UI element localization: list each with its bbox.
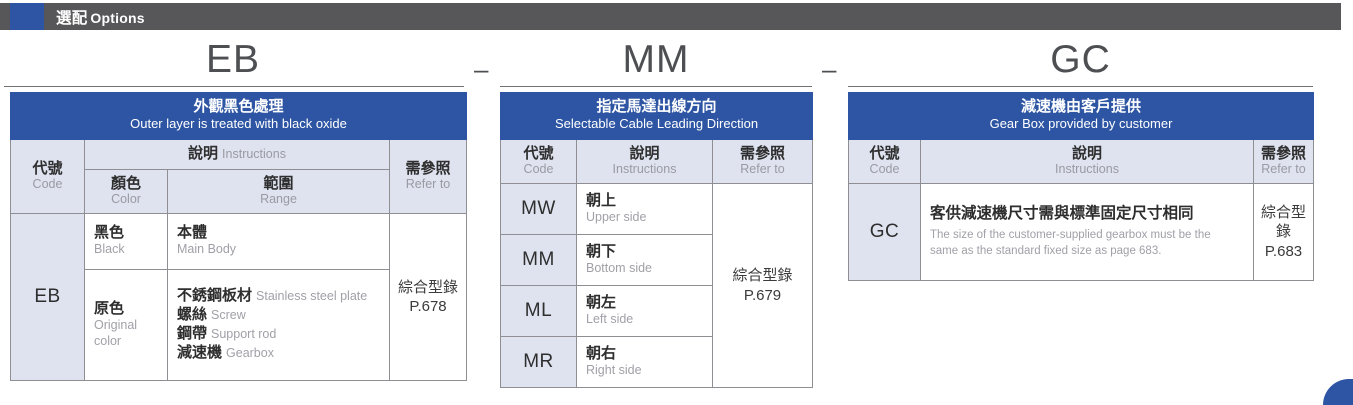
col-header-instructions-zh: 說明 xyxy=(924,145,1250,162)
col-header-instructions: 說明Instructions xyxy=(85,139,390,169)
cell-direction-left: 朝左 Left side xyxy=(577,286,713,337)
col-header-refer-zh: 需參照 xyxy=(716,145,809,162)
section-title-zh: 選配 xyxy=(56,10,87,27)
table-row-header: 代號 Code 說明 Instructions 需參照 Refer to xyxy=(501,139,813,183)
col-header-code-zh: 代號 xyxy=(14,160,81,177)
code-heading-rule-eb xyxy=(4,86,464,87)
cell-gearbox-description-en: The size of the customer-supplied gearbo… xyxy=(930,227,1230,260)
col-header-code-en: Code xyxy=(852,162,917,177)
col-header-instructions-en: Instructions xyxy=(222,147,286,161)
cell-code-mr: MR xyxy=(501,337,577,388)
col-header-refer-en: Refer to xyxy=(716,162,809,177)
cell-code-gc: GC xyxy=(849,184,921,281)
table-row-band: 減速機由客戶提供 Gear Box provided by customer xyxy=(849,93,1314,140)
range-item: 不銹鋼板材Stainless steel plate xyxy=(177,287,381,305)
cell-code-mw: MW xyxy=(501,184,577,235)
cell-direction-right: 朝右 Right side xyxy=(577,337,713,388)
cell-refer-value: 綜合型錄 P.679 xyxy=(713,184,813,388)
cell-range-main-body-en: Main Body xyxy=(177,242,381,258)
table-band-gc: 減速機由客戶提供 Gear Box provided by customer xyxy=(849,93,1314,140)
cell-refer-value: 綜合型錄 P.678 xyxy=(390,214,467,381)
code-heading-gc: GC xyxy=(848,40,1313,79)
section-title-en: Options xyxy=(90,10,144,26)
col-header-color-en: Color xyxy=(88,192,164,207)
cell-code-ml: ML xyxy=(501,286,577,337)
cell-color-black-en: Black xyxy=(94,242,159,258)
cell-refer-catalog: 綜合型錄 xyxy=(394,278,462,298)
col-header-instructions-zh: 說明 xyxy=(580,145,709,162)
col-header-code: 代號 Code xyxy=(501,139,577,183)
col-header-refer: 需參照 Refer to xyxy=(1254,139,1314,183)
band-title-zh: 外觀黑色處理 xyxy=(15,98,462,115)
band-title-en: Selectable Cable Leading Direction xyxy=(505,116,808,132)
section-title-bar: 選配Options xyxy=(0,3,1341,30)
col-header-instructions: 說明 Instructions xyxy=(921,139,1254,183)
col-header-refer-zh: 需參照 xyxy=(393,160,463,177)
col-header-code-zh: 代號 xyxy=(852,145,917,162)
options-table-eb: 外觀黑色處理 Outer layer is treated with black… xyxy=(10,92,467,381)
cell-direction-upper: 朝上 Upper side xyxy=(577,184,713,235)
col-header-code: 代號 Code xyxy=(11,139,85,213)
table-row: EB 黑色 Black 本體 Main Body 綜合型錄 P.678 xyxy=(11,214,467,270)
cell-color-black-zh: 黑色 xyxy=(94,224,159,242)
band-title-zh: 減速機由客戶提供 xyxy=(853,98,1309,115)
col-header-refer: 需參照 Refer to xyxy=(390,139,467,213)
cell-refer-page: P.683 xyxy=(1258,242,1309,262)
cell-gearbox-description: 客供減速機尺寸需與標準固定尺寸相同 The size of the custom… xyxy=(921,184,1254,281)
cell-color-original-zh: 原色 xyxy=(94,300,159,318)
col-header-refer-zh: 需參照 xyxy=(1257,145,1310,162)
col-header-refer-en: Refer to xyxy=(393,177,463,192)
separator-dash-1: – xyxy=(474,56,488,82)
cell-color-original: 原色 Original color xyxy=(85,270,168,381)
code-heading-eb: EB xyxy=(0,40,466,79)
separator-dash-2: – xyxy=(822,56,836,82)
band-title-zh: 指定馬達出線方向 xyxy=(505,98,808,115)
col-header-code: 代號 Code xyxy=(849,139,921,183)
cell-refer-page: P.679 xyxy=(717,286,808,306)
cell-gearbox-description-zh: 客供減速機尺寸需與標準固定尺寸相同 xyxy=(930,203,1245,225)
col-header-instructions-en: Instructions xyxy=(580,162,709,177)
table-row-header: 代號 Code 說明 Instructions 需參照 Refer to xyxy=(849,139,1314,183)
col-header-instructions-en: Instructions xyxy=(924,162,1250,177)
col-header-color: 顏色 Color xyxy=(85,169,168,213)
cell-range-main-body: 本體 Main Body xyxy=(168,214,390,270)
cell-code-value: EB xyxy=(11,214,85,381)
cell-code-mm: MM xyxy=(501,235,577,286)
corner-shape-icon xyxy=(1323,379,1353,405)
col-header-instructions: 說明 Instructions xyxy=(577,139,713,183)
range-item: 鋼帶Support rod xyxy=(177,325,381,343)
col-header-refer-en: Refer to xyxy=(1257,162,1310,177)
col-header-code-en: Code xyxy=(504,162,573,177)
cell-range-original: 不銹鋼板材Stainless steel plate 螺絲Screw 鋼帶Sup… xyxy=(168,270,390,381)
page-corner-mark xyxy=(1317,375,1353,405)
table-band-mm: 指定馬達出線方向 Selectable Cable Leading Direct… xyxy=(501,93,813,140)
cell-direction-bottom: 朝下 Bottom side xyxy=(577,235,713,286)
range-item: 減速機Gearbox xyxy=(177,344,381,362)
col-header-code-zh: 代號 xyxy=(504,145,573,162)
band-title-en: Gear Box provided by customer xyxy=(853,116,1309,132)
cell-refer-catalog: 綜合型錄 xyxy=(717,266,808,286)
table-row: MW 朝上 Upper side 綜合型錄 P.679 xyxy=(501,184,813,235)
cell-color-black: 黑色 Black xyxy=(85,214,168,270)
col-header-range: 範圍 Range xyxy=(168,169,390,213)
options-table-gc: 減速機由客戶提供 Gear Box provided by customer 代… xyxy=(848,92,1314,281)
cell-refer-catalog: 綜合型錄 xyxy=(1258,203,1309,242)
cell-refer-page: P.678 xyxy=(394,297,462,317)
section-title: 選配Options xyxy=(56,6,145,28)
table-row-band: 外觀黑色處理 Outer layer is treated with black… xyxy=(11,93,467,140)
code-heading-rule-mm xyxy=(500,86,812,87)
code-heading-rule-gc xyxy=(848,86,1313,87)
cell-refer-value: 綜合型錄 P.683 xyxy=(1254,184,1314,281)
cell-range-main-body-zh: 本體 xyxy=(177,224,381,242)
code-heading-mm: MM xyxy=(500,40,812,79)
cell-color-original-en: Original color xyxy=(94,318,159,349)
band-title-en: Outer layer is treated with black oxide xyxy=(15,116,462,132)
range-item: 螺絲Screw xyxy=(177,306,381,324)
col-header-refer: 需參照 Refer to xyxy=(713,139,813,183)
col-header-range-en: Range xyxy=(171,192,386,207)
col-header-color-zh: 顏色 xyxy=(88,175,164,192)
col-header-code-en: Code xyxy=(14,177,81,192)
table-band-eb: 外觀黑色處理 Outer layer is treated with black… xyxy=(11,93,467,140)
table-row-band: 指定馬達出線方向 Selectable Cable Leading Direct… xyxy=(501,93,813,140)
table-row: GC 客供減速機尺寸需與標準固定尺寸相同 The size of the cus… xyxy=(849,184,1314,281)
col-header-instructions-zh: 說明 xyxy=(188,145,218,162)
title-accent-swatch xyxy=(10,3,44,30)
table-row-header-1: 代號 Code 說明Instructions 需參照 Refer to xyxy=(11,139,467,169)
options-table-mm: 指定馬達出線方向 Selectable Cable Leading Direct… xyxy=(500,92,813,388)
col-header-range-zh: 範圍 xyxy=(171,175,386,192)
